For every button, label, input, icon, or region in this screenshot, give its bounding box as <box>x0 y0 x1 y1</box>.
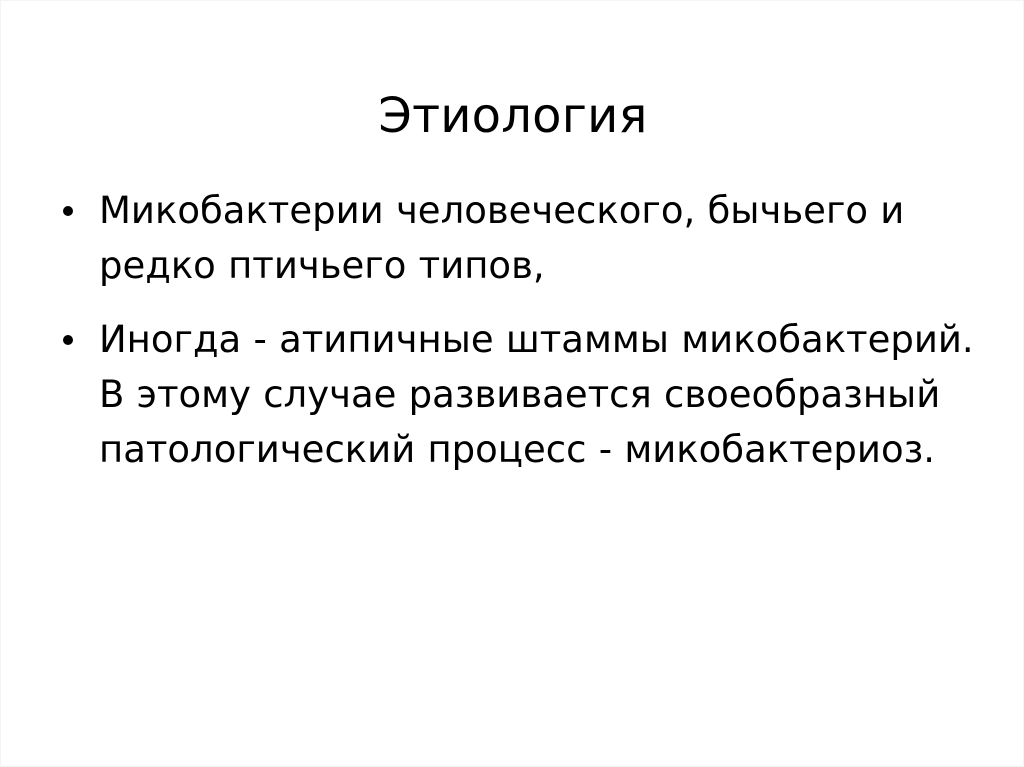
list-item-line: редко птичьего типов, <box>99 238 981 293</box>
list-item-line: В этому случае развивается своеобразный <box>99 367 981 422</box>
list-item-text: Микобактерии человеческого, бычьего и ре… <box>99 183 981 293</box>
list-item: Иногда - атипичные штаммы микобактерий. … <box>57 312 981 477</box>
list-item-text: Иногда - атипичные штаммы микобактерий. … <box>99 312 981 477</box>
list-item-line: Иногда - атипичные штаммы микобактерий. <box>99 312 981 367</box>
presentation-slide: Этиология Микобактерии человеческого, бы… <box>0 0 1024 767</box>
page-title: Этиология <box>1 85 1024 147</box>
list-item-line: патологический процесс - микобактериоз. <box>99 422 981 477</box>
list-item-line: Микобактерии человеческого, бычьего и <box>99 183 981 238</box>
list-item: Микобактерии человеческого, бычьего и ре… <box>57 183 981 293</box>
bullet-dot-icon <box>63 335 73 345</box>
slide-body-content: Микобактерии человеческого, бычьего и ре… <box>57 183 981 477</box>
bullet-dot-icon <box>63 206 73 216</box>
